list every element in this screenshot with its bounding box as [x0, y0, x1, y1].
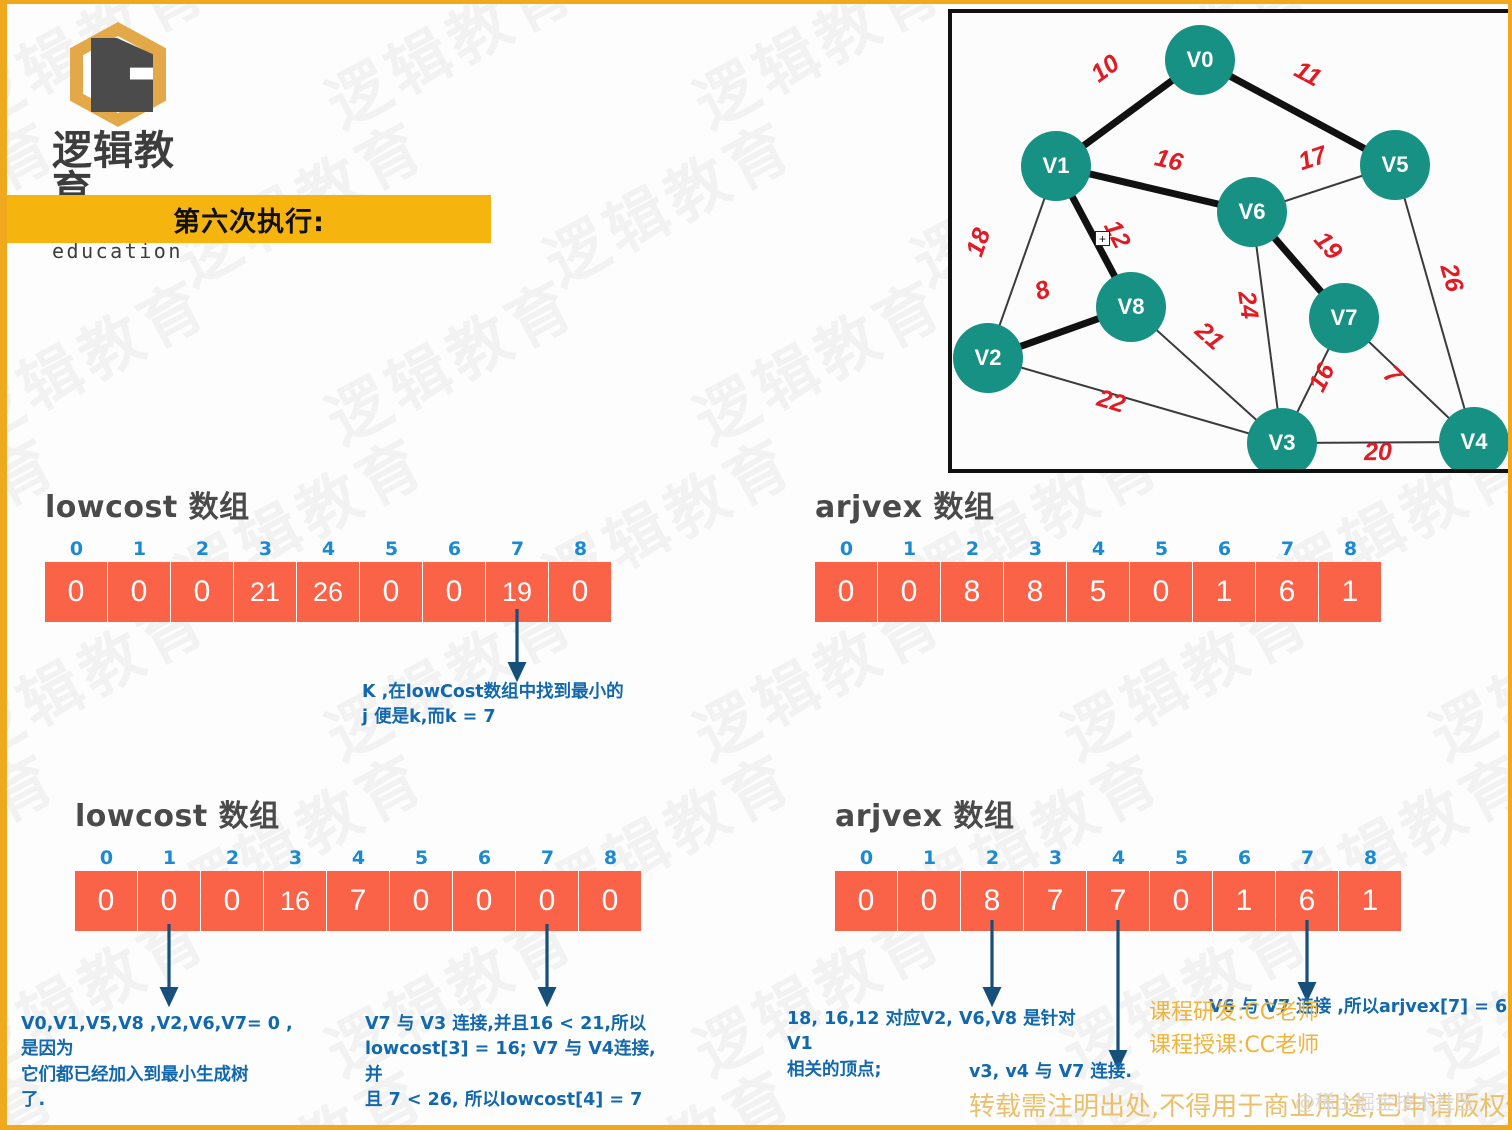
lowcost-top-note: K ,在lowCost数组中找到最小的 j 便是k,而k = 7 [362, 680, 652, 731]
lowcost-bottom-note-right: V7 与 V3 连接,并且16 < 21,所以 lowcost[3] = 16;… [365, 1012, 665, 1114]
arjvex-bottom-note-mid: v3, v4 与 V7 连接. [969, 1060, 1259, 1085]
course-credits: 课程研发:CC老师 课程授课:CC老师 [1149, 996, 1319, 1062]
lowcost-bottom-note-left: V0,V1,V5,V8 ,V2,V6,V7= 0 , 是因为 它们都已经加入到最… [21, 1012, 311, 1114]
credit-line-2: 课程授课:CC老师 [1149, 1029, 1319, 1062]
annotation-arrows [7, 4, 1512, 1130]
slide-root: 逻辑教育逻辑教育逻辑教育逻辑教育逻辑教育逻辑教育逻辑教育逻辑教育逻辑教育逻辑教育… [0, 0, 1512, 1130]
credit-line-1: 课程研发:CC老师 [1149, 996, 1319, 1029]
site-watermark: @稀土掘金技术社区 [1295, 1086, 1475, 1115]
